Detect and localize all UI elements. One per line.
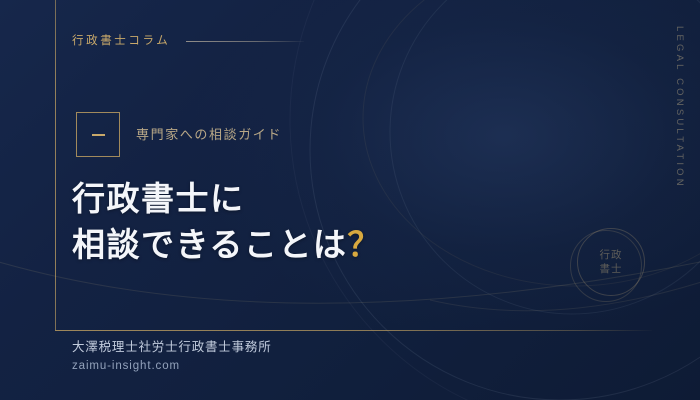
kicker-row: 専門家への相談ガイド [76, 112, 282, 157]
circular-seal-badge: 行政 書士 [577, 228, 645, 296]
title-line-1: 行政書士に [72, 176, 382, 222]
seal-line-1: 行政 [600, 249, 623, 261]
footer-divider [55, 330, 652, 331]
question-mark: ？ [347, 226, 382, 263]
slide-canvas: 行政書士コラム 専門家への相談ガイド 行政書士に 相談できることは？ 大澤税理士… [0, 0, 700, 400]
footer-url: zaimu-insight.com [72, 357, 272, 375]
title-line-2: 相談できることは？ [72, 222, 382, 268]
left-vertical-rule [55, 0, 56, 330]
title-line-2-text: 相談できることは [72, 226, 347, 263]
dash-icon [92, 134, 105, 136]
footer: 大澤税理士社労士行政書士事務所 zaimu-insight.com [72, 338, 272, 375]
side-vertical-label: LEGAL CONSULTATION [675, 26, 685, 189]
eyebrow-rule-line [186, 41, 304, 42]
seal-text: 行政 書士 [577, 228, 645, 296]
footer-organization: 大澤税理士社労士行政書士事務所 [72, 338, 272, 357]
page-title: 行政書士に 相談できることは？ [72, 176, 382, 267]
eyebrow: 行政書士コラム [72, 36, 304, 48]
square-badge-icon [76, 112, 120, 157]
kicker-label: 専門家への相談ガイド [136, 128, 282, 141]
seal-line-2: 書士 [600, 263, 623, 275]
eyebrow-label: 行政書士コラム [72, 36, 170, 48]
